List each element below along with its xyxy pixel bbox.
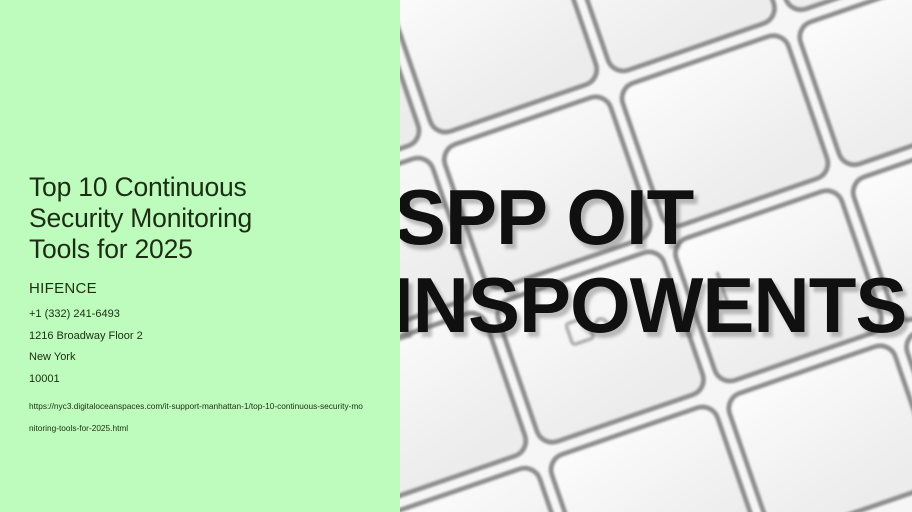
page-root: Top 10 Continuous Security Monitoring To…: [0, 0, 912, 512]
overlay-headline-line-1: SPP OIT: [400, 178, 693, 256]
brand-name: HIFENCE: [29, 279, 374, 299]
contact-city: New York: [29, 347, 374, 369]
overlay-headline-line-2: INSPOWENTS: [400, 266, 906, 344]
page-title: Top 10 Continuous Security Monitoring To…: [29, 172, 374, 265]
contact-address-line: 1216 Broadway Floor 2: [29, 326, 374, 348]
illustration-panel: SPP OIT INSPOWENTS: [400, 0, 912, 512]
info-panel-content: Top 10 Continuous Security Monitoring To…: [29, 172, 374, 439]
contact-zip: 10001: [29, 369, 374, 391]
source-url[interactable]: https://nyc3.digitaloceanspaces.com/it-s…: [29, 395, 367, 439]
contact-phone: +1 (332) 241-6493: [29, 304, 374, 326]
info-panel: Top 10 Continuous Security Monitoring To…: [0, 0, 400, 512]
